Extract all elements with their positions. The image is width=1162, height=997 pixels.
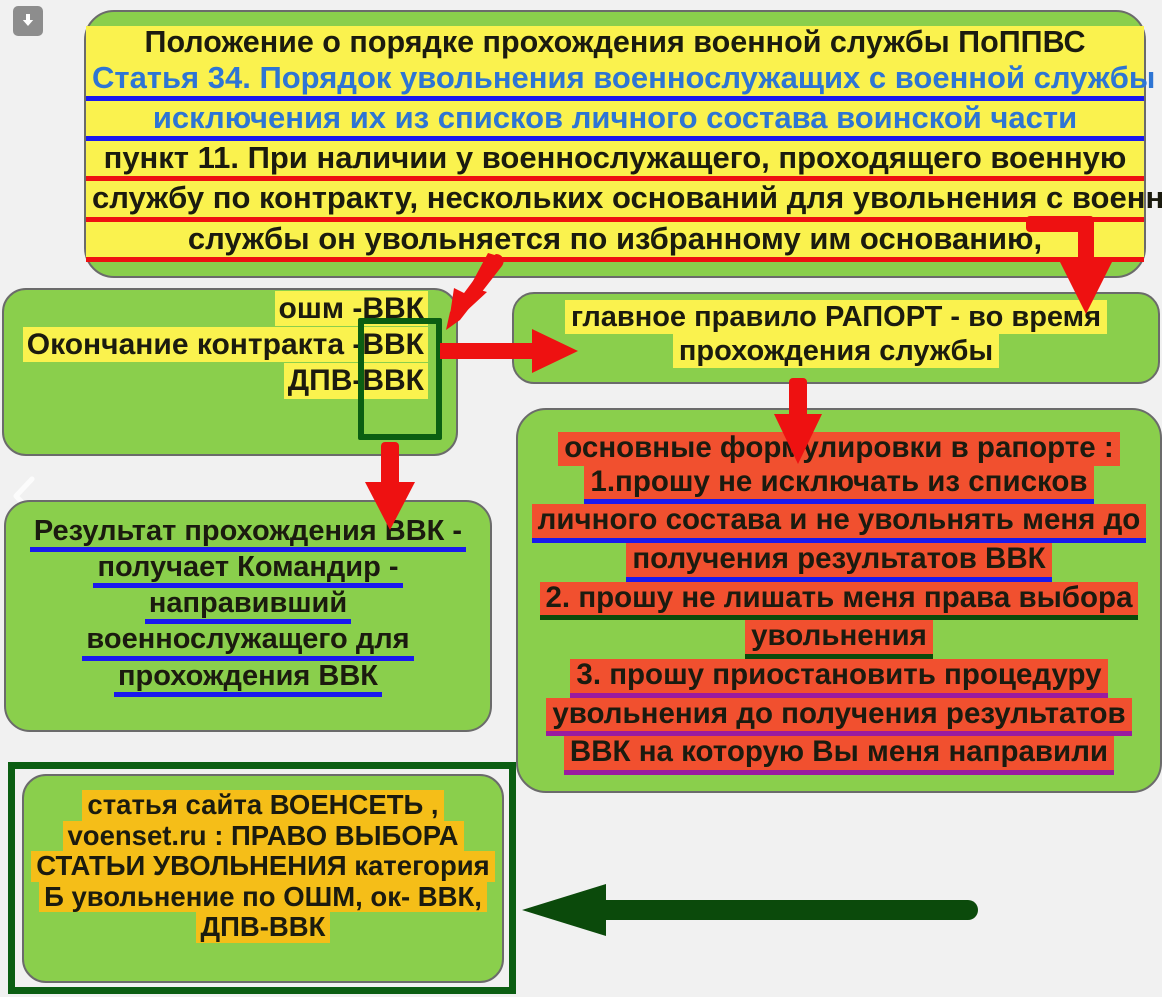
card-title: Положение о порядке прохождения военной … [84,10,1146,278]
result-line-3: направивший [145,588,351,624]
form-line-6: увольнения [745,620,933,659]
site-line-1: статья сайта ВОЕНСЕТЬ , [82,790,443,821]
title-line-2: Статья 34. Порядок увольнения военнослуж… [86,61,1144,101]
arrow-title-to-list [440,250,510,335]
arrow-rule-to-form [772,378,824,466]
arrow-list-to-rule [440,325,580,377]
result-line-2: получает Командир - [93,552,402,588]
arrow-form-to-site [518,880,980,940]
form-line-1: основные формулировки в рапорте : [558,432,1119,466]
form-line-7: 3. прошу приостановить процедуру [570,659,1107,698]
card-site-article: статья сайта ВОЕНСЕТЬ , voenset.ru : ПРА… [22,774,504,983]
result-line-5: прохождения ВВК [114,661,382,697]
title-line-1: Положение о порядке прохождения военной … [86,26,1144,61]
site-line-2: voenset.ru : ПРАВО ВЫБОРА [63,821,464,852]
card-report-formulations: основные формулировки в рапорте : 1.прош… [516,408,1162,793]
arrow-list-to-result [362,442,418,532]
vvk-highlight-box [358,318,442,440]
arrow-title-to-rule [1022,208,1162,318]
card-vvk-result: Результат прохождения ВВК - получает Ком… [4,500,492,732]
download-icon [19,12,37,30]
download-button[interactable] [13,6,43,36]
title-line-4: пункт 11. При наличии у военнослужащего,… [86,141,1144,181]
form-line-9: ВВК на которую Вы меня направили [564,736,1114,775]
result-line-4: военнослужащего для [82,624,413,660]
title-line-5: службу по контракту, нескольких основани… [86,181,1144,221]
site-line-3: СТАТЬИ УВОЛЬНЕНИЯ категория [31,851,494,882]
site-line-4: Б увольнение по ОШМ, ок- ВВК, [39,882,487,913]
form-line-8: увольнения до получения результатов [546,698,1131,737]
rule-line-2: прохождения службы [673,334,999,368]
form-line-3: личного состава и не увольнять меня до [532,504,1147,543]
form-line-2: 1.прошу не исключать из списков [584,466,1093,505]
title-line-3: исключения их из списков личного состава… [86,101,1144,141]
form-line-4: получения результатов ВВК [626,543,1051,582]
form-line-5: 2. прошу не лишать меня права выбора [540,582,1139,621]
site-line-5: ДПВ-ВВК [196,912,331,943]
title-line-6: службы он увольняется по избранному им о… [86,222,1144,262]
